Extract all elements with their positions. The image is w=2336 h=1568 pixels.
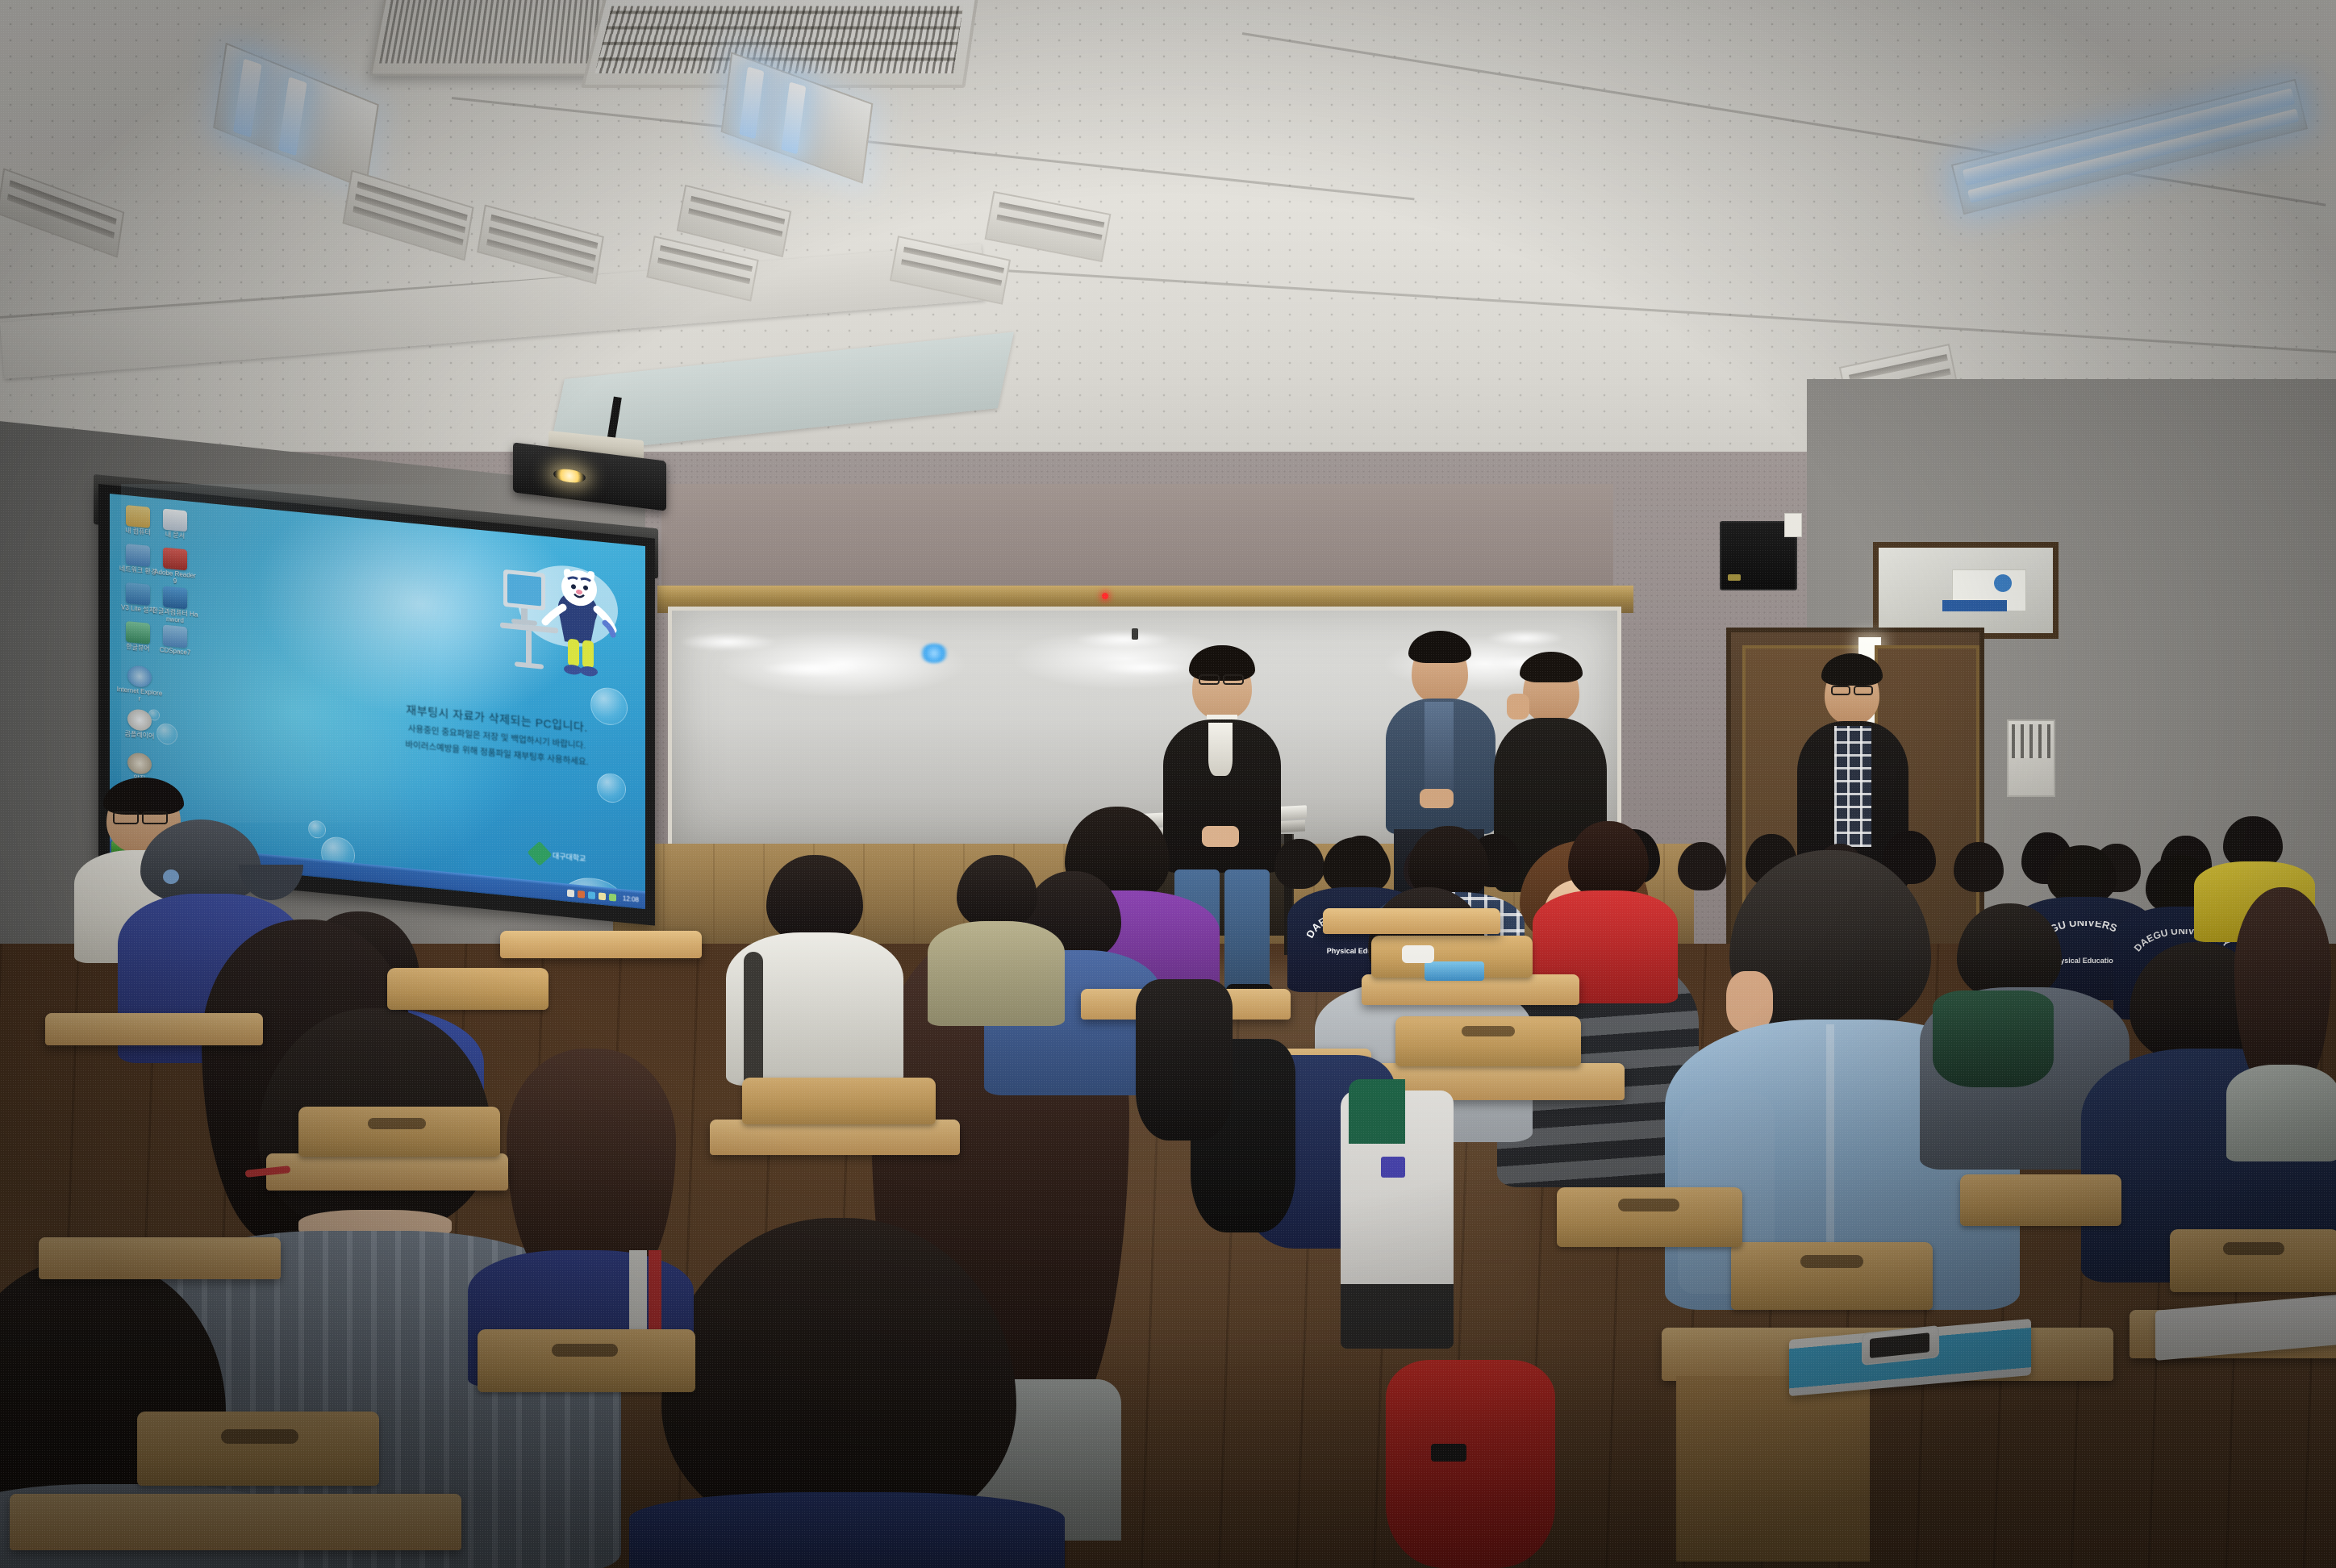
bag-strap: [744, 952, 763, 1089]
presenter-raised-hand: [1507, 694, 1529, 719]
chair-left-front[interactable]: [137, 1412, 379, 1486]
chair-handle-cutout: [221, 1429, 298, 1444]
v3-antivirus-icon: [126, 582, 150, 606]
chair-left-b[interactable]: [298, 1107, 500, 1157]
presenter-hands: [1420, 789, 1454, 808]
my-documents-icon: [163, 508, 187, 532]
chair-right-d[interactable]: [1960, 1174, 2121, 1226]
chair-handle-cutout: [552, 1344, 618, 1357]
student-hair: [2234, 887, 2331, 1089]
hangul-viewer-icon: [126, 621, 150, 644]
varsity-jacket-on-chair[interactable]: [1341, 1091, 1454, 1349]
wall-vent-grille: [2012, 724, 2050, 758]
blue-light-reflection: [920, 644, 949, 663]
chair-handle-cutout: [2223, 1242, 2284, 1255]
backpack-buckle: [1431, 1444, 1466, 1462]
desk-left-mid[interactable]: [39, 1237, 281, 1279]
university-logo: 대구대학교: [531, 841, 628, 874]
screen-notice-text: 재부팅시 자료가 삭제되는 PC입니다. 사용중인 중요파일은 저장 및 백업하…: [376, 699, 618, 770]
antivirus-icon[interactable]: [588, 891, 595, 899]
desk-left-c[interactable]: [45, 1013, 263, 1045]
presenter-glasses: [1223, 674, 1244, 685]
shield-icon[interactable]: [609, 893, 616, 901]
chair-handle-cutout: [1800, 1255, 1863, 1268]
speaker-logo: [1728, 574, 1741, 581]
desk-left-d[interactable]: [500, 931, 702, 958]
chair-handle-cutout: [1462, 1026, 1515, 1036]
cap-visor: [239, 865, 303, 900]
jacket-emblem: [1381, 1157, 1405, 1178]
laser-pointer-dot: [1102, 593, 1108, 599]
internet-explorer-icon: [127, 665, 152, 688]
desk-right-front-panel: [1676, 1376, 1870, 1562]
chair-handle-cutout: [1618, 1199, 1679, 1211]
student-red-top: [1533, 821, 1678, 999]
hancom-office-icon: [163, 586, 187, 609]
jacket-collar: [1349, 1079, 1405, 1144]
student-khaki-top: [928, 855, 1065, 1016]
logo-diamond-icon: [527, 841, 552, 866]
presenter-glasses: [1831, 686, 1850, 695]
student-long-hair-right: [2226, 887, 2336, 1161]
desktop-icon[interactable]: 한글과컴퓨터 Hanword: [152, 585, 198, 626]
chair-right-c[interactable]: [1557, 1187, 1742, 1247]
chair-center-right[interactable]: [1395, 1016, 1581, 1066]
chair-handle-cutout: [368, 1118, 426, 1129]
phone-screen: [1870, 1332, 1929, 1358]
desk-left-e[interactable]: [710, 1120, 960, 1155]
presenter-glasses: [1854, 686, 1873, 695]
corridor-badge-icon: [1994, 574, 2012, 592]
black-backpack-left[interactable]: [1136, 979, 1233, 1141]
corridor-shelf: [1942, 600, 2007, 611]
cap-logo: [163, 869, 179, 884]
green-bag[interactable]: [1933, 990, 2054, 1087]
desktop-icon[interactable]: CDSpace7: [152, 623, 198, 657]
desk-aisle-right[interactable]: [1323, 908, 1500, 934]
volume-icon[interactable]: [567, 889, 574, 897]
lecture-hall-photo: 내 컴퓨터 내 문서 네트워크 환경 Adobe Reader 9 V3 Lit…: [0, 0, 2336, 1568]
language-icon[interactable]: [599, 892, 606, 900]
chair-right-a[interactable]: [1731, 1242, 1933, 1310]
cdspace-icon: [163, 624, 187, 648]
desktop-icon[interactable]: Internet Explorer: [116, 664, 163, 705]
chair-right-b[interactable]: [2170, 1229, 2336, 1292]
wall-emergency-box: [1784, 513, 1802, 537]
whiteboard-marker[interactable]: [1132, 628, 1138, 640]
student-foreground-center: [629, 1218, 1065, 1568]
alzip-icon: [127, 752, 152, 775]
student-white-top: [726, 855, 903, 1081]
red-backpack[interactable]: [1386, 1360, 1555, 1568]
baseball-cap: [140, 819, 261, 903]
taskbar-clock: 12:08: [623, 895, 639, 903]
desk-left-b[interactable]: [266, 1153, 508, 1191]
desk-left-front[interactable]: [10, 1494, 461, 1550]
desktop-icon[interactable]: 곰플레이어: [116, 707, 163, 741]
network-icon[interactable]: [578, 890, 585, 898]
chair-left-e[interactable]: [742, 1078, 936, 1124]
snack-package[interactable]: [1425, 961, 1484, 981]
desktop-icon[interactable]: Adobe Reader 9: [152, 546, 198, 587]
network-places-icon: [126, 544, 150, 567]
gom-player-icon: [127, 708, 152, 732]
ac-vent-grille-panel: [594, 6, 963, 73]
chair-left-c[interactable]: [387, 968, 549, 1010]
tissue-paper: [1402, 945, 1434, 963]
my-computer-icon: [126, 505, 150, 528]
presenter-glasses: [1199, 674, 1220, 685]
desktop-icon[interactable]: 내 문서: [152, 507, 198, 541]
tiger-mascot-illustration: [494, 554, 623, 688]
adobe-reader-icon: [163, 547, 187, 570]
chair-left-mid[interactable]: [478, 1329, 695, 1392]
